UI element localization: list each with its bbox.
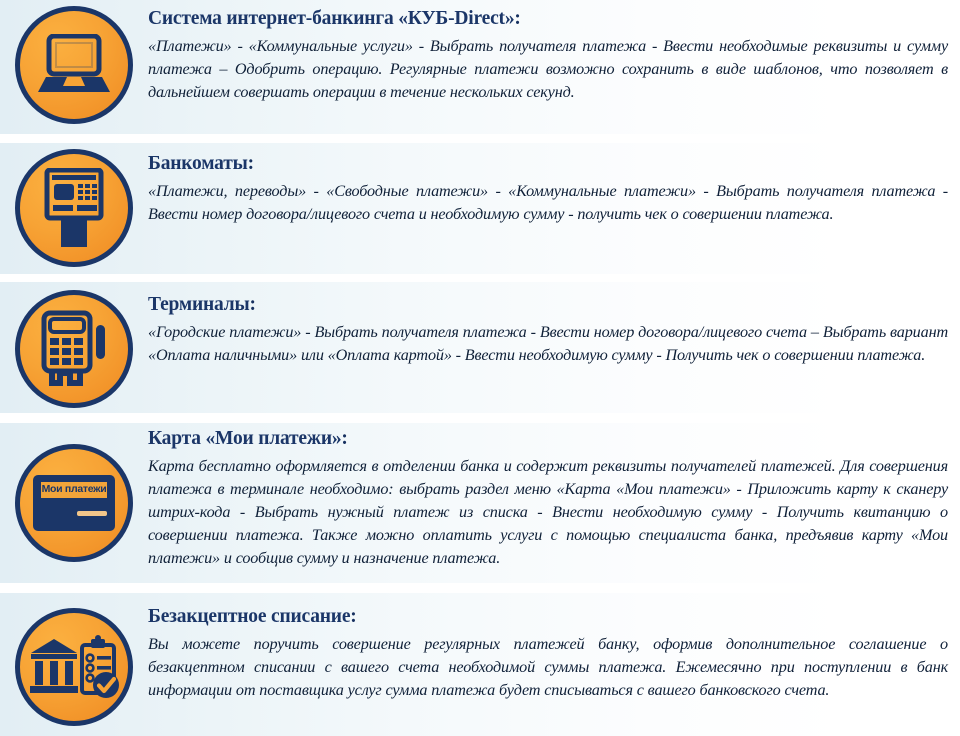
section-body-terminals: «Городские платежи» - Выбрать получателя… — [148, 321, 948, 367]
laptop-icon — [15, 6, 133, 124]
payment-card-icon: Мои платежи — [15, 444, 133, 562]
bank-checklist-icon — [15, 608, 133, 726]
section-heading-atms: Банкоматы: — [148, 153, 948, 175]
icon-badge-atms — [0, 147, 148, 267]
icon-badge-internet-banking — [0, 6, 148, 124]
section-body-atms: «Платежи, переводы» - «Свободные платежи… — [148, 180, 948, 226]
icon-badge-terminals — [0, 288, 148, 408]
section-text-direct-debit: Безакцептное списание: Вы можете поручит… — [148, 598, 960, 702]
icon-badge-my-payments-card: Мои платежи — [0, 428, 148, 578]
section-internet-banking: Система интернет-банкинга «КУБ-Direct»: … — [0, 6, 960, 124]
section-text-my-payments-card: Карта «Мои платежи»: Карта бесплатно офо… — [148, 428, 960, 570]
section-text-internet-banking: Система интернет-банкинга «КУБ-Direct»: … — [148, 6, 960, 104]
section-terminals: Терминалы: «Городские платежи» - Выбрать… — [0, 288, 960, 408]
section-body-my-payments-card: Карта бесплатно оформляется в отделении … — [148, 455, 948, 570]
pos-terminal-icon — [15, 290, 133, 408]
section-heading-internet-banking: Система интернет-банкинга «КУБ-Direct»: — [148, 8, 948, 30]
section-my-payments-card: Мои платежи Карта «Мои платежи»: Карта б… — [0, 428, 960, 578]
section-heading-terminals: Терминалы: — [148, 294, 948, 316]
section-text-terminals: Терминалы: «Городские платежи» - Выбрать… — [148, 288, 960, 367]
section-body-direct-debit: Вы можете поручить совершение регулярных… — [148, 633, 948, 702]
section-direct-debit: Безакцептное списание: Вы можете поручит… — [0, 598, 960, 726]
section-text-atms: Банкоматы: «Платежи, переводы» - «Свобод… — [148, 147, 960, 226]
section-body-internet-banking: «Платежи» - «Коммунальные услуги» - Выбр… — [148, 35, 948, 104]
atm-icon — [15, 149, 133, 267]
section-heading-my-payments-card: Карта «Мои платежи»: — [148, 428, 948, 450]
payment-methods-infographic: Система интернет-банкинга «КУБ-Direct»: … — [0, 0, 960, 736]
section-heading-direct-debit: Безакцептное списание: — [148, 606, 948, 628]
section-atms: Банкоматы: «Платежи, переводы» - «Свобод… — [0, 147, 960, 267]
icon-badge-direct-debit — [0, 598, 148, 726]
